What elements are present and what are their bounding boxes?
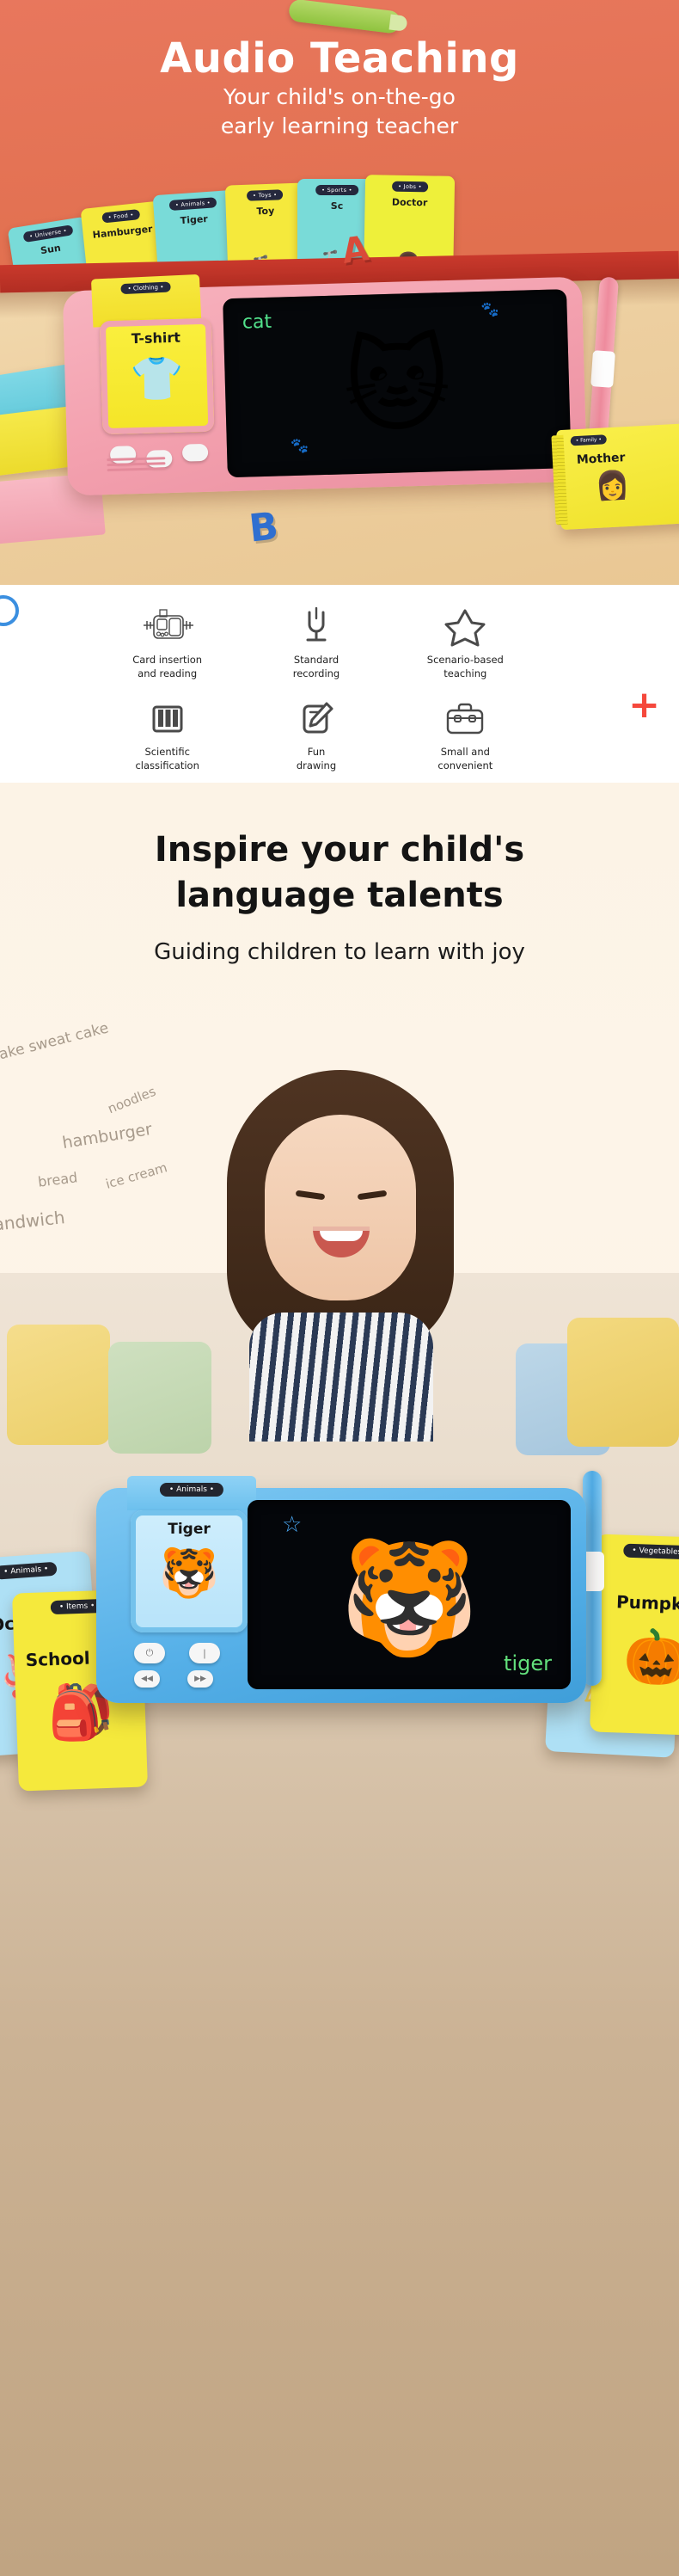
tiger-icon: 🐯 [131,1545,248,1602]
inspire-subtitle: Guiding children to learn with joy [0,939,679,965]
tablet-button-2[interactable]: ◀◀ [134,1670,160,1688]
side-card-badge: • Vegetables • [623,1544,679,1560]
tablet-device-blue[interactable]: • Animals • Tiger 🐯 ⏻ ❘ ◀◀ ▶▶ ☆ 🐯 tiger [96,1488,586,1703]
microphone-icon [242,604,390,650]
hero-subtitle-line1: Your child's on-the-go [0,83,679,112]
child-photo [220,1070,461,1440]
features-section: + Card ins [0,585,679,783]
tshirt-icon: 👕 [101,353,214,407]
stylus-grip [590,350,615,388]
flashcard-badge: • Jobs • [392,181,428,193]
floor [0,1694,679,2576]
drawing-screen[interactable]: ☆ 🐯 tiger [248,1500,571,1689]
letter-block-a: A [339,229,371,272]
feature-standard-recording: Standard recording [242,604,390,680]
slot-category-badge: • Animals • [160,1483,223,1497]
side-card-badge: • Animals • [0,1562,58,1580]
paw-icon: 🐾 [480,301,499,319]
cat-doodle-icon: 🐱 [342,326,453,448]
hero-section: Audio Teaching Your child's on-the-go ea… [0,0,679,585]
screen-word: tiger [504,1651,552,1675]
card-word: T-shirt [100,329,211,348]
tablet-button-3[interactable]: ▶▶ [187,1670,213,1688]
power-button[interactable]: ⏻ [134,1643,165,1663]
card-stack-icon [93,696,242,742]
briefcase-icon [391,696,540,742]
feature-label-line2: and reading [93,667,242,681]
circle-decor-icon [0,595,19,626]
card-slot[interactable]: • Animals • [127,1476,256,1510]
card-window: T-shirt 👕 [100,318,215,435]
box-category-badge: • Family • [570,434,607,446]
feature-label-line1: Card insertion [93,654,242,667]
plus-decor-icon: + [628,686,660,724]
feature-scientific-classification: Scientific classification [93,696,242,772]
card-window: Tiger 🐯 [131,1510,248,1632]
cushion-yellow-right [567,1318,679,1447]
hero-subtitle-line2: early learning teacher [0,112,679,141]
product-landing-page: Audio Teaching Your child's on-the-go ea… [0,0,679,2576]
letter-block-b: B [247,504,280,550]
paw-icon: 🐾 [291,438,309,456]
feature-label-line2: recording [242,667,390,681]
side-card-word: Pumpkin [594,1590,679,1615]
feature-label-line2: teaching [391,667,540,681]
feature-label: Card insertion and reading [93,654,242,680]
flashcard-word: Tiger [154,212,234,228]
tablet-button-3[interactable] [182,444,209,462]
tablet-device-pink[interactable]: • Clothing • T-shirt 👕 cat 🐱 🐾 🐾 [63,277,587,496]
flashcard-badge: • Food • [101,209,140,224]
feature-label-line1: Scientific [93,746,242,759]
flashcard-word: Hamburger [83,222,162,242]
feature-scenario-teaching: Scenario-based teaching [391,604,540,680]
feature-fun-drawing: Fun drawing [242,696,390,772]
note-pencil-icon [242,696,390,742]
mother-icon: 👩 [595,468,631,502]
star-doodle-icon: ☆ [282,1512,302,1538]
inspire-section: Inspire your child's language talents Gu… [0,783,679,2576]
tiger-doodle-icon: 🐯 [339,1533,479,1664]
card-box-yellow: • Family • Mother 👩 [556,423,679,530]
feature-label-line1: Fun [242,746,390,759]
feature-label-line1: Scenario-based [391,654,540,667]
slot-category-badge: • Clothing • [120,281,170,294]
feature-label: Small and convenient [391,746,540,772]
page-title: Audio Teaching [0,34,679,83]
flashcard-badge: • Animals • [169,197,217,211]
flashcard-word: Toy [226,204,305,218]
hero-subtitle: Your child's on-the-go early learning te… [0,83,679,141]
flashcard-badge: • Sports • [315,185,358,195]
feature-label-line2: drawing [242,759,390,773]
inspire-title: Inspire your child's language talents [0,827,679,919]
pumpkin-icon: 🎃 [591,1623,679,1691]
flashcard-badge: • Toys • [247,189,284,200]
box-word: Mother [577,451,626,467]
drawing-screen[interactable]: cat 🐱 🐾 🐾 [223,289,572,477]
cushion-green [108,1342,211,1454]
feature-label: Standard recording [242,654,390,680]
feature-label-line1: Small and [391,746,540,759]
feature-label-line2: classification [93,759,242,773]
lifestyle-scene: • Animals • Octopus 🐙 • Items • School b… [0,1041,679,2576]
cushion-yellow-left [7,1325,110,1445]
card-reader-icon [93,604,242,650]
star-icon [391,604,540,650]
card-word: Tiger [131,1521,248,1538]
inspire-title-line1: Inspire your child's [0,827,679,873]
speaker-grille [107,457,166,477]
feature-card-insertion: Card insertion and reading [93,604,242,680]
feature-label-line1: Standard [242,654,390,667]
flashcard-word: Doctor [365,196,455,209]
screen-word: cat [242,311,272,334]
flashcard-word: Sun [10,237,90,261]
feature-label: Scenario-based teaching [391,654,540,680]
tablet-button-1[interactable]: ❘ [189,1643,220,1663]
features-grid: Card insertion and reading Standard reco… [93,604,540,772]
face [265,1115,416,1300]
feature-small-convenient: Small and convenient [391,696,540,772]
inspire-title-line2: language talents [0,873,679,919]
feature-label: Fun drawing [242,746,390,772]
feature-label: Scientific classification [93,746,242,772]
flashcard-badge: • Universe • [22,224,73,243]
feature-label-line2: convenient [391,759,540,773]
striped-shirt [249,1313,433,1442]
